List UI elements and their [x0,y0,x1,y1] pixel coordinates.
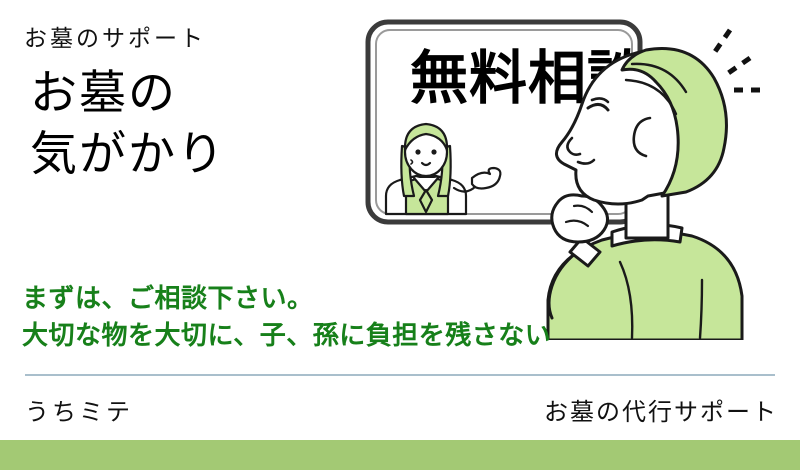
woman-eye-left [415,149,420,154]
tagline-line-1: まずは、ご相談下さい。 [22,280,551,317]
brand-name: うちミテ [25,392,133,427]
page-title: お墓の 気がかり [30,62,226,184]
footer-divider [25,374,775,376]
footer-tagline: お墓の代行サポート [544,392,778,427]
promo-banner: お墓のサポート お墓の 気がかり [0,0,800,470]
bottom-accent-bar [0,440,800,470]
eyebrow-label: お墓のサポート [24,26,206,51]
headline-line-2: 気がかり [30,123,226,184]
tagline-line-2: 大切な物を大切に、子、孫に負担を残さない [22,317,551,354]
woman-eye-right [431,149,436,154]
headline-line-1: お墓の [30,62,226,123]
idea-line-1 [712,30,730,56]
idea-lines [712,30,760,90]
idea-line-2 [724,58,750,76]
tagline: まずは、ご相談下さい。 大切な物を大切に、子、孫に負担を残さない [22,280,551,354]
